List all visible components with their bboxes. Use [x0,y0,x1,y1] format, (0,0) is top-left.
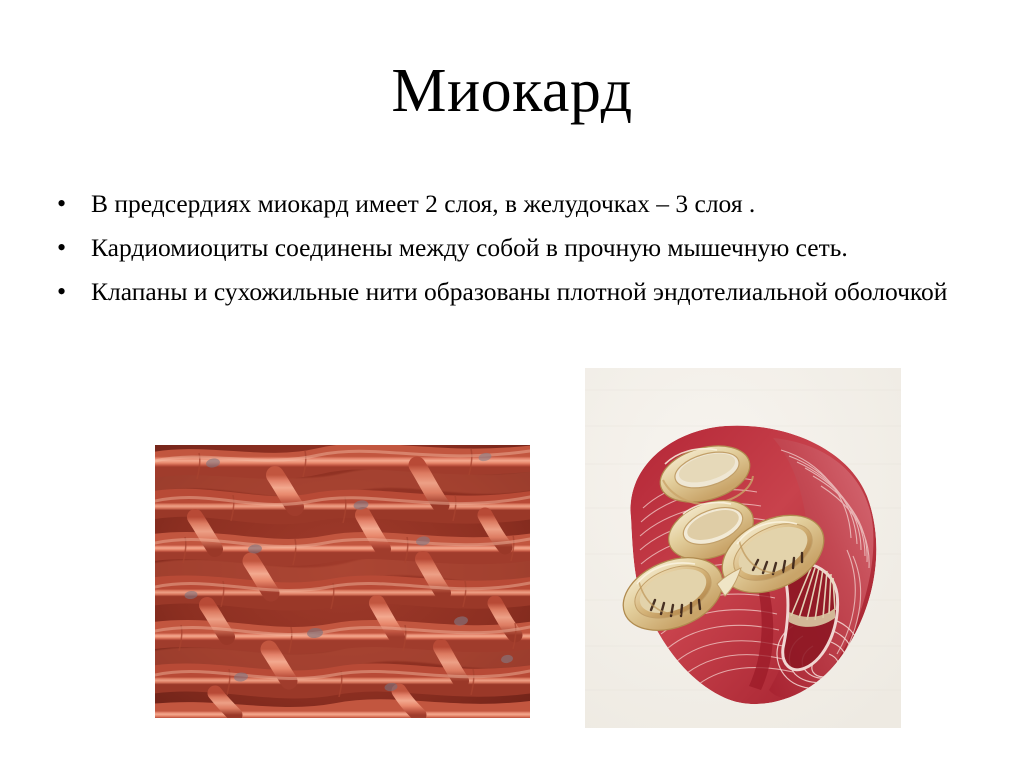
cardiomyocyte-network-image [155,445,530,718]
list-item-text: Клапаны и сухожильные нити образованы пл… [91,271,952,312]
list-item-text: Кардиомиоциты соединены между собой в пр… [91,227,952,268]
list-item: • Клапаны и сухожильные нити образованы … [52,271,952,312]
list-item: • В предсердиях миокард имеет 2 слоя, в … [52,183,952,224]
heart-fibrous-skeleton-image [585,368,901,728]
list-item-text: В предсердиях миокард имеет 2 слоя, в же… [91,183,952,224]
page-title: Миокард [0,56,1024,126]
presentation-slide: Миокард • В предсердиях миокард имеет 2 … [0,0,1024,767]
bullet-point-icon: • [52,271,91,312]
bullet-list: • В предсердиях миокард имеет 2 слоя, в … [52,183,952,315]
list-item: • Кардиомиоциты соединены между собой в … [52,227,952,268]
bullet-point-icon: • [52,227,91,268]
bullet-point-icon: • [52,183,91,224]
